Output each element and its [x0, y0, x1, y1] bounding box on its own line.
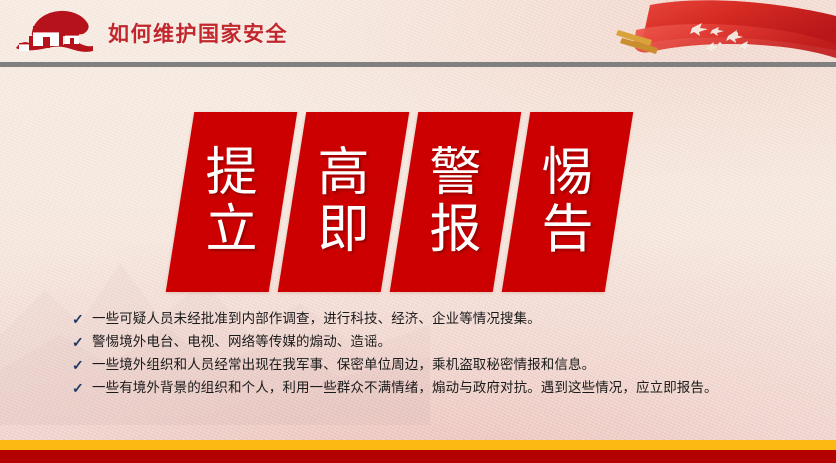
banner-char-bottom-2: 即: [317, 204, 369, 257]
banner-char-bottom-3: 报: [429, 204, 481, 257]
bullet-list: ✓ 一些可疑人员未经批准到内部作调查，进行科技、经济、企业等情况搜集。 ✓ 警惕…: [72, 308, 832, 400]
banner-block-3: 警 报: [390, 112, 522, 292]
check-icon: ✓: [72, 354, 92, 377]
list-item: ✓ 一些境外组织和人员经常出现在我军事、保密单位周边，乘机盗取秘密情报和信息。: [72, 354, 832, 377]
banner-char-top-1: 提: [205, 147, 257, 200]
slide-header: 如何维护国家安全: [0, 0, 836, 62]
header-divider: [0, 62, 836, 67]
banner-slogan: 提 立 高 即 警 报 惕 告: [0, 112, 836, 292]
check-icon: ✓: [72, 331, 92, 354]
banner-char-top-3: 警: [429, 147, 481, 200]
list-item: ✓ 警惕境外电台、电视、网络等传媒的煽动、造谣。: [72, 331, 832, 354]
list-item-text: 一些有境外背景的组织和个人，利用一些群众不满情绪，煽动与政府对抗。遇到这些情况，…: [92, 377, 718, 400]
list-item-text: 一些可疑人员未经批准到内部作调查，进行科技、经济、企业等情况搜集。: [92, 308, 541, 331]
red-flag-icon: [616, 0, 836, 62]
banner-char-top-4: 惕: [541, 147, 593, 200]
list-item-text: 警惕境外电台、电视、网络等传媒的煽动、造谣。: [92, 331, 391, 354]
banner-char-bottom-4: 告: [541, 204, 593, 257]
check-icon: ✓: [72, 377, 92, 400]
page-title: 如何维护国家安全: [108, 18, 288, 48]
list-item: ✓ 一些可疑人员未经批准到内部作调查，进行科技、经济、企业等情况搜集。: [72, 308, 832, 331]
banner-char-top-2: 高: [317, 147, 369, 200]
banner-block-4: 惕 告: [502, 112, 634, 292]
check-icon: ✓: [72, 308, 92, 331]
list-item: ✓ 一些有境外背景的组织和个人，利用一些群众不满情绪，煽动与政府对抗。遇到这些情…: [72, 377, 832, 400]
list-item-text: 一些境外组织和人员经常出现在我军事、保密单位周边，乘机盗取秘密情报和信息。: [92, 354, 595, 377]
banner-char-bottom-1: 立: [205, 204, 257, 257]
banner-block-1: 提 立: [166, 112, 298, 292]
footer-red-bar: [0, 450, 836, 463]
great-wall-icon: [13, 8, 97, 54]
footer-gold-bar: [0, 440, 836, 450]
slide-canvas: 如何维护国家安全: [0, 0, 836, 463]
banner-block-2: 高 即: [278, 112, 410, 292]
